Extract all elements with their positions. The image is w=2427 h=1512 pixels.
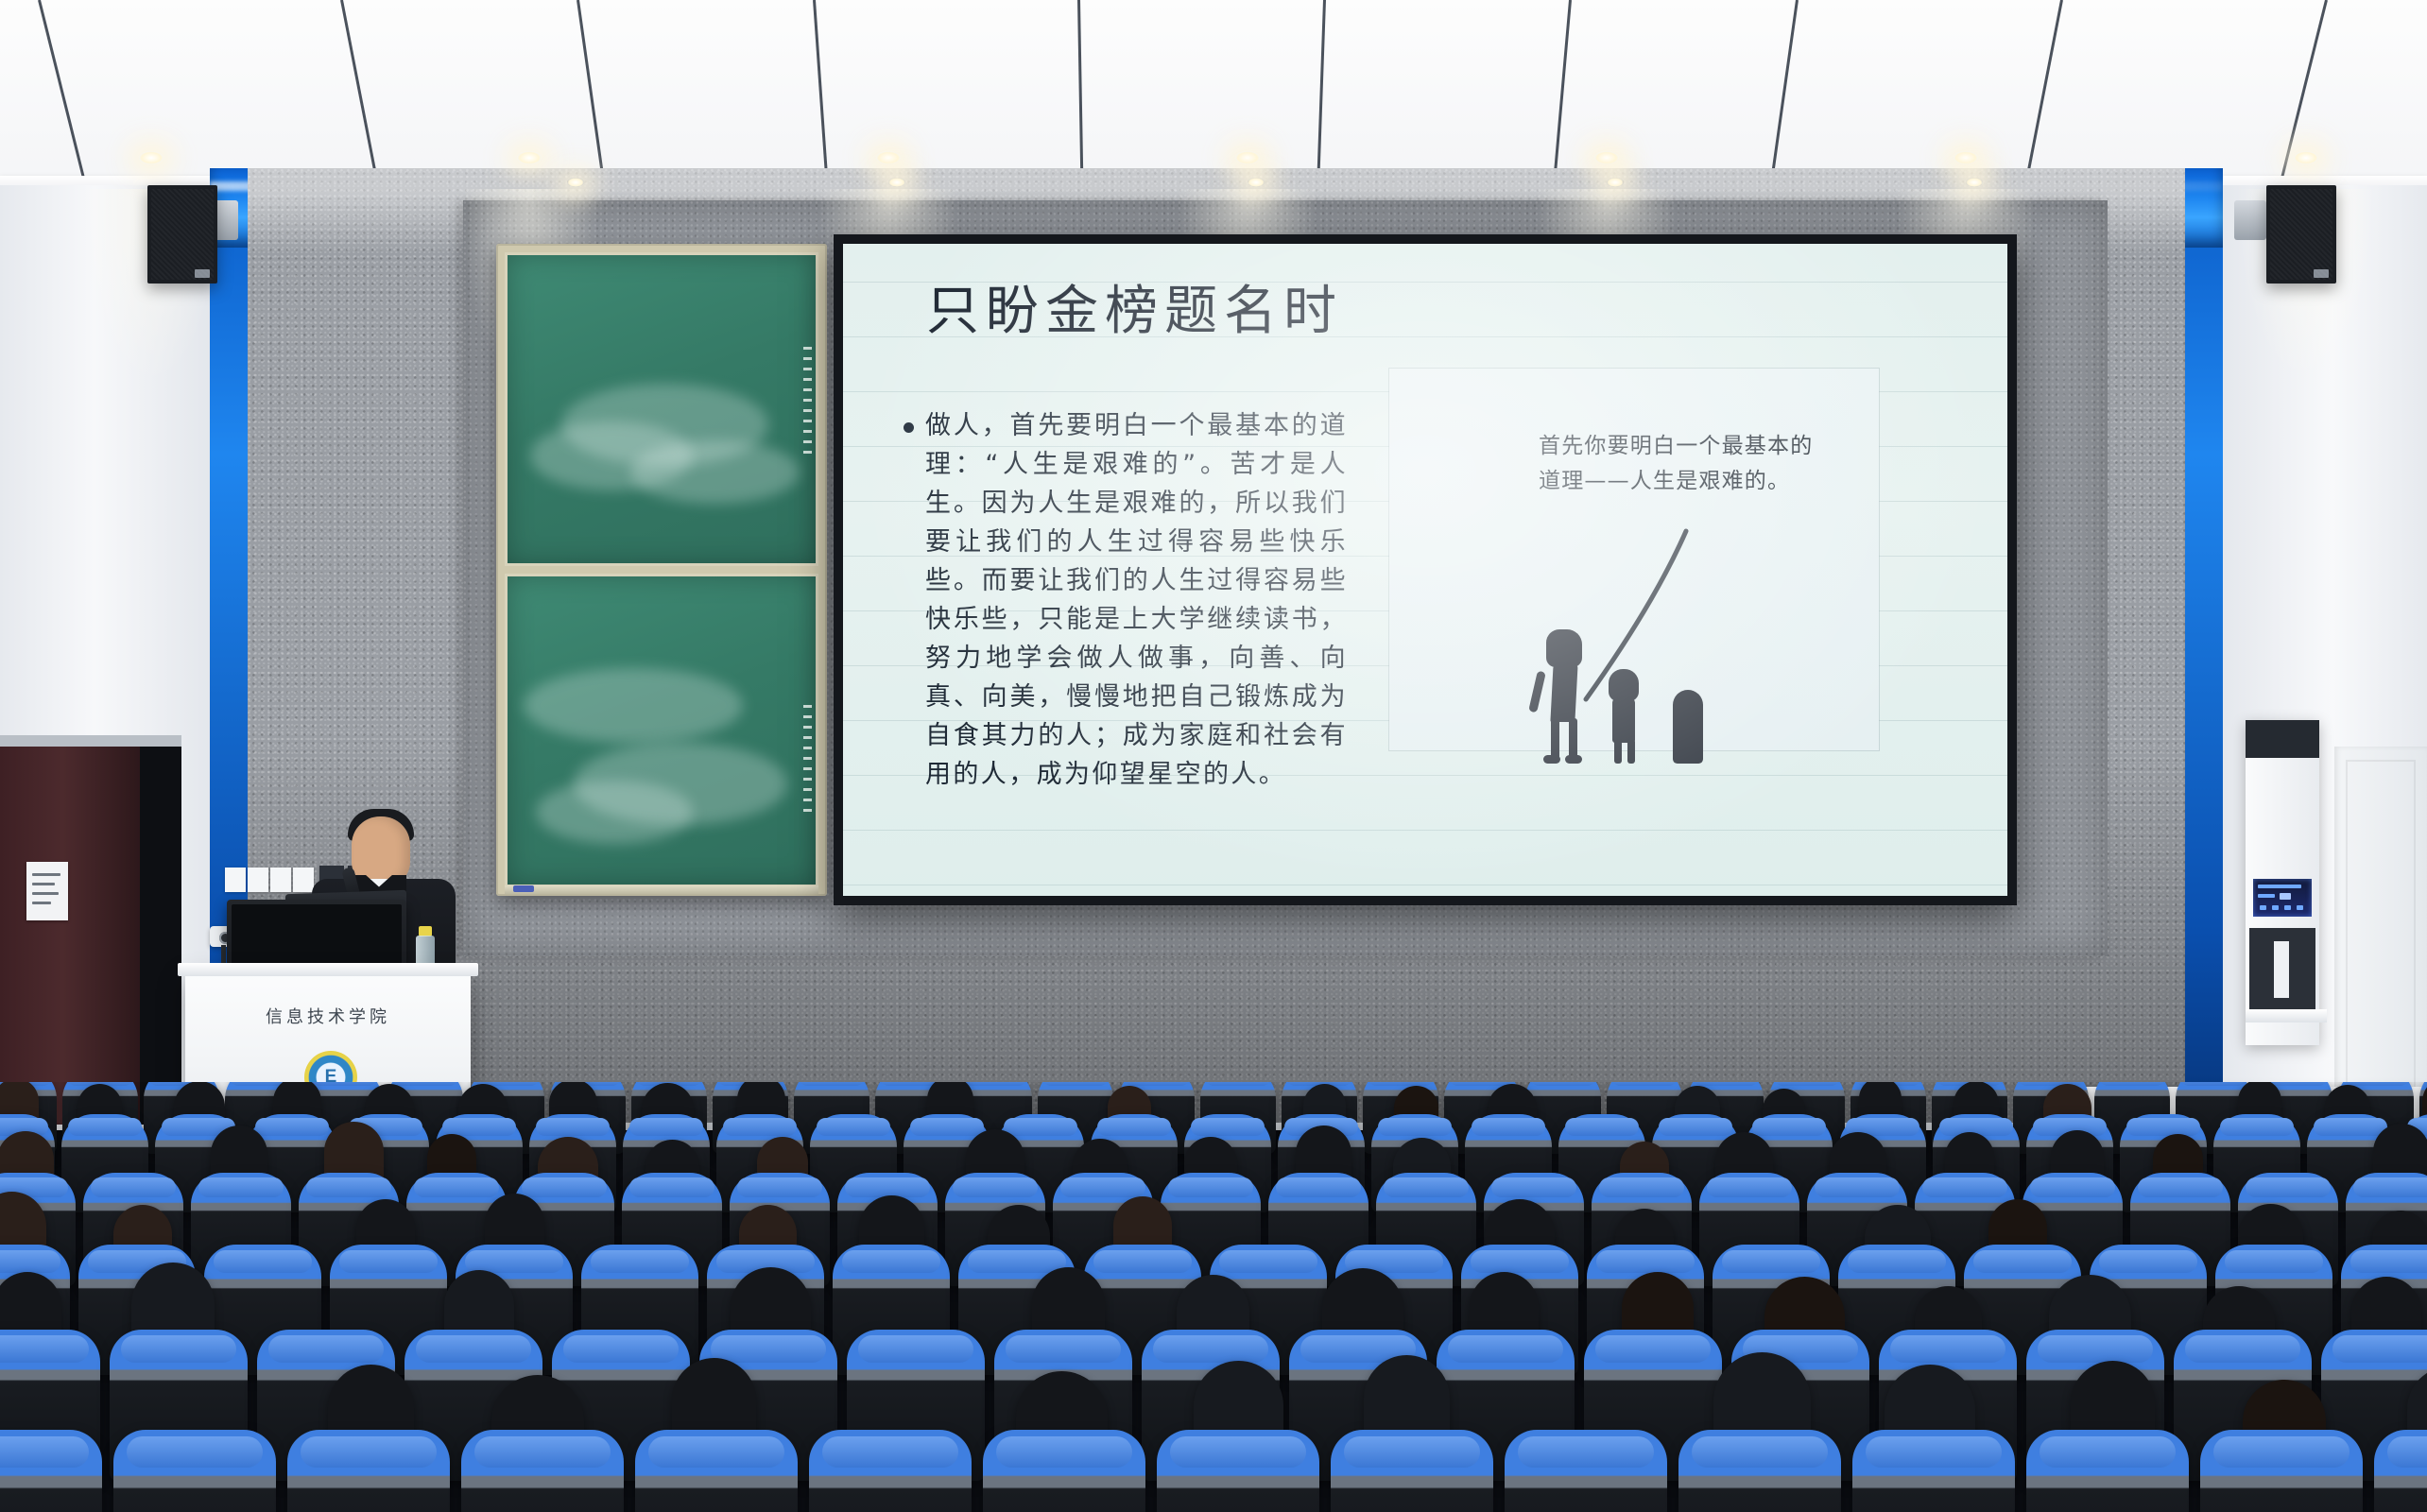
accent-downlight bbox=[888, 178, 905, 187]
accent-downlight bbox=[567, 178, 584, 187]
door-panel bbox=[2346, 760, 2416, 1111]
terminal-display[interactable] bbox=[2253, 879, 2312, 917]
illustration-caption: 首先你要明白一个最基本的 道理——人生是艰难的。 bbox=[1539, 429, 1850, 500]
audience-seating bbox=[0, 1082, 2427, 1512]
terminal-shelf bbox=[2246, 1009, 2327, 1022]
side-door[interactable] bbox=[0, 747, 140, 1125]
terminal-dispenser bbox=[2274, 941, 2289, 998]
figure-child-body bbox=[1612, 697, 1635, 743]
bullet-point-icon bbox=[904, 422, 914, 433]
chalk-tray bbox=[505, 885, 818, 894]
rear-door-right[interactable] bbox=[2334, 747, 2427, 1125]
auditorium-seat[interactable] bbox=[1852, 1430, 2015, 1512]
screen-scanline bbox=[843, 830, 2007, 831]
auditorium-seat[interactable] bbox=[461, 1430, 624, 1512]
auditorium-seat[interactable] bbox=[1157, 1430, 1319, 1512]
switch-plate-3[interactable] bbox=[270, 868, 291, 892]
speaker-logo bbox=[195, 269, 210, 278]
slide-body-text: 做人，首先要明白一个最基本的道理：“人生是艰难的”。苦才是人生。因为人生是艰难的… bbox=[925, 406, 1348, 794]
podium-top-surface bbox=[178, 963, 478, 976]
auditorium-seat[interactable] bbox=[287, 1430, 450, 1512]
auditorium-seat[interactable] bbox=[113, 1430, 276, 1512]
ceiling-downlight bbox=[1235, 151, 1260, 164]
ceiling-downlight bbox=[139, 151, 164, 164]
figure-child-leg-left bbox=[1614, 739, 1622, 764]
slide-illustration: 首先你要明白一个最基本的 道理——人生是艰难的。 bbox=[1389, 369, 1879, 750]
auditorium-seat[interactable] bbox=[1678, 1430, 1841, 1512]
wall-speaker-left bbox=[147, 185, 217, 283]
figure-adult-leg-right bbox=[1569, 718, 1577, 760]
screen-scanline bbox=[843, 885, 2007, 885]
auditorium-seat[interactable] bbox=[2200, 1430, 2363, 1512]
slide-bullet-block: 做人，首先要明白一个最基本的道理：“人生是艰难的”。苦才是人生。因为人生是艰难的… bbox=[904, 406, 1348, 794]
figure-adult-foot-right bbox=[1565, 755, 1582, 764]
figure-adult-head bbox=[1546, 629, 1582, 667]
projection-screen-frame: 只盼金榜题名时 做人，首先要明白一个最基本的道理：“人生是艰难的”。苦才是人生。… bbox=[834, 234, 2017, 905]
slide-title: 只盼金榜题名时 bbox=[926, 268, 1343, 345]
switch-plate-1[interactable] bbox=[225, 868, 246, 892]
podium-label: 信息技术学院 bbox=[185, 1004, 471, 1028]
figure-child-leg-right bbox=[1627, 739, 1635, 764]
auditorium-seat[interactable] bbox=[1331, 1430, 1493, 1512]
figure-child-head bbox=[1609, 669, 1639, 701]
ceiling bbox=[0, 0, 2427, 189]
blue-accent-right bbox=[2185, 168, 2223, 1123]
auditorium-seat[interactable] bbox=[983, 1430, 1145, 1512]
projection-screen: 只盼金榜题名时 做人，首先要明白一个最基本的道理：“人生是艰难的”。苦才是人生。… bbox=[843, 244, 2007, 896]
ceiling-downlight bbox=[517, 151, 542, 164]
accent-downlight bbox=[1607, 178, 1624, 187]
blackboard-panel-bottom bbox=[505, 574, 818, 887]
door-gap bbox=[140, 747, 181, 1125]
auditorium-seat[interactable] bbox=[1505, 1430, 1667, 1512]
ceiling-downlight bbox=[1594, 151, 1619, 164]
accent-downlight bbox=[1248, 178, 1265, 187]
figure-adult-arm bbox=[1528, 671, 1546, 713]
accent-downlight bbox=[1966, 178, 1983, 187]
ceiling-downlight bbox=[2294, 151, 2318, 164]
figure-adult-body bbox=[1550, 663, 1577, 722]
auditorium-seat[interactable] bbox=[635, 1430, 798, 1512]
auditorium-seat[interactable] bbox=[809, 1430, 972, 1512]
blackboard bbox=[496, 244, 827, 896]
auditorium-seat[interactable] bbox=[2026, 1430, 2189, 1512]
figure-adult-foot-left bbox=[1543, 755, 1560, 764]
chalk-piece bbox=[513, 885, 534, 892]
terminal-top-bar bbox=[2246, 720, 2319, 758]
figure-adult-leg-left bbox=[1551, 718, 1559, 760]
blackboard-panel-top bbox=[505, 252, 818, 566]
ceiling-downlight bbox=[1954, 151, 1978, 164]
door-sign bbox=[26, 862, 68, 920]
lecture-hall-photo: 只盼金榜题名时 做人，首先要明白一个最基本的道理：“人生是艰难的”。苦才是人生。… bbox=[0, 0, 2427, 1512]
switch-plate-4[interactable] bbox=[293, 868, 314, 892]
switch-plate-2[interactable] bbox=[248, 868, 268, 892]
ceiling-downlight bbox=[876, 151, 901, 164]
figure-small-shape bbox=[1673, 690, 1703, 764]
wall-speaker-right bbox=[2266, 185, 2336, 283]
speaker-logo bbox=[2314, 269, 2329, 278]
auditorium-seat[interactable] bbox=[2374, 1430, 2427, 1512]
speaker-bracket-right bbox=[2234, 200, 2266, 240]
auditorium-seat[interactable] bbox=[0, 1430, 102, 1512]
wall-terminal[interactable] bbox=[2246, 720, 2319, 1045]
